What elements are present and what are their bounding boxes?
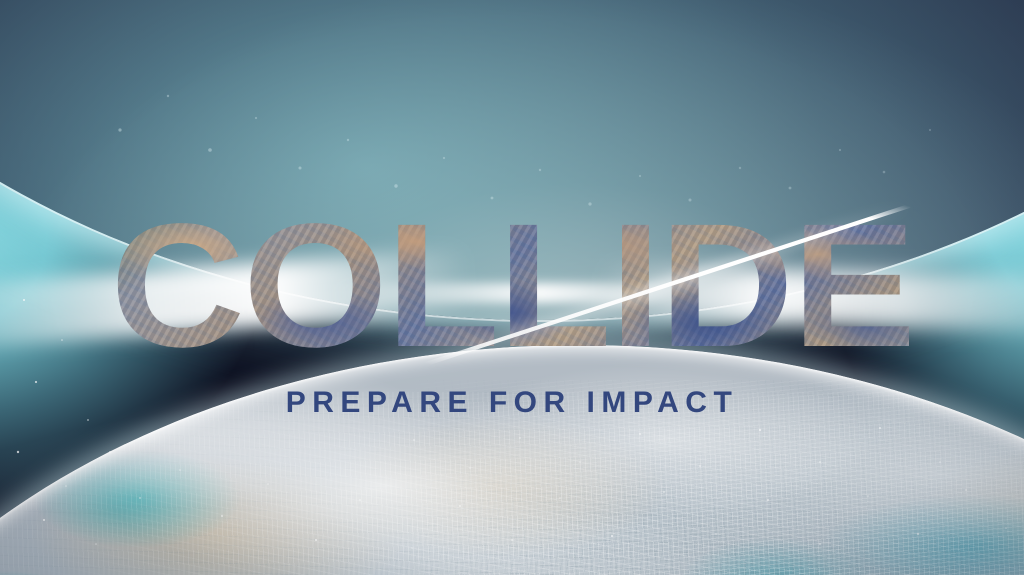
vignette-overlay (0, 0, 1024, 575)
poster-canvas: COLLIDE PREPAR (0, 0, 1024, 575)
